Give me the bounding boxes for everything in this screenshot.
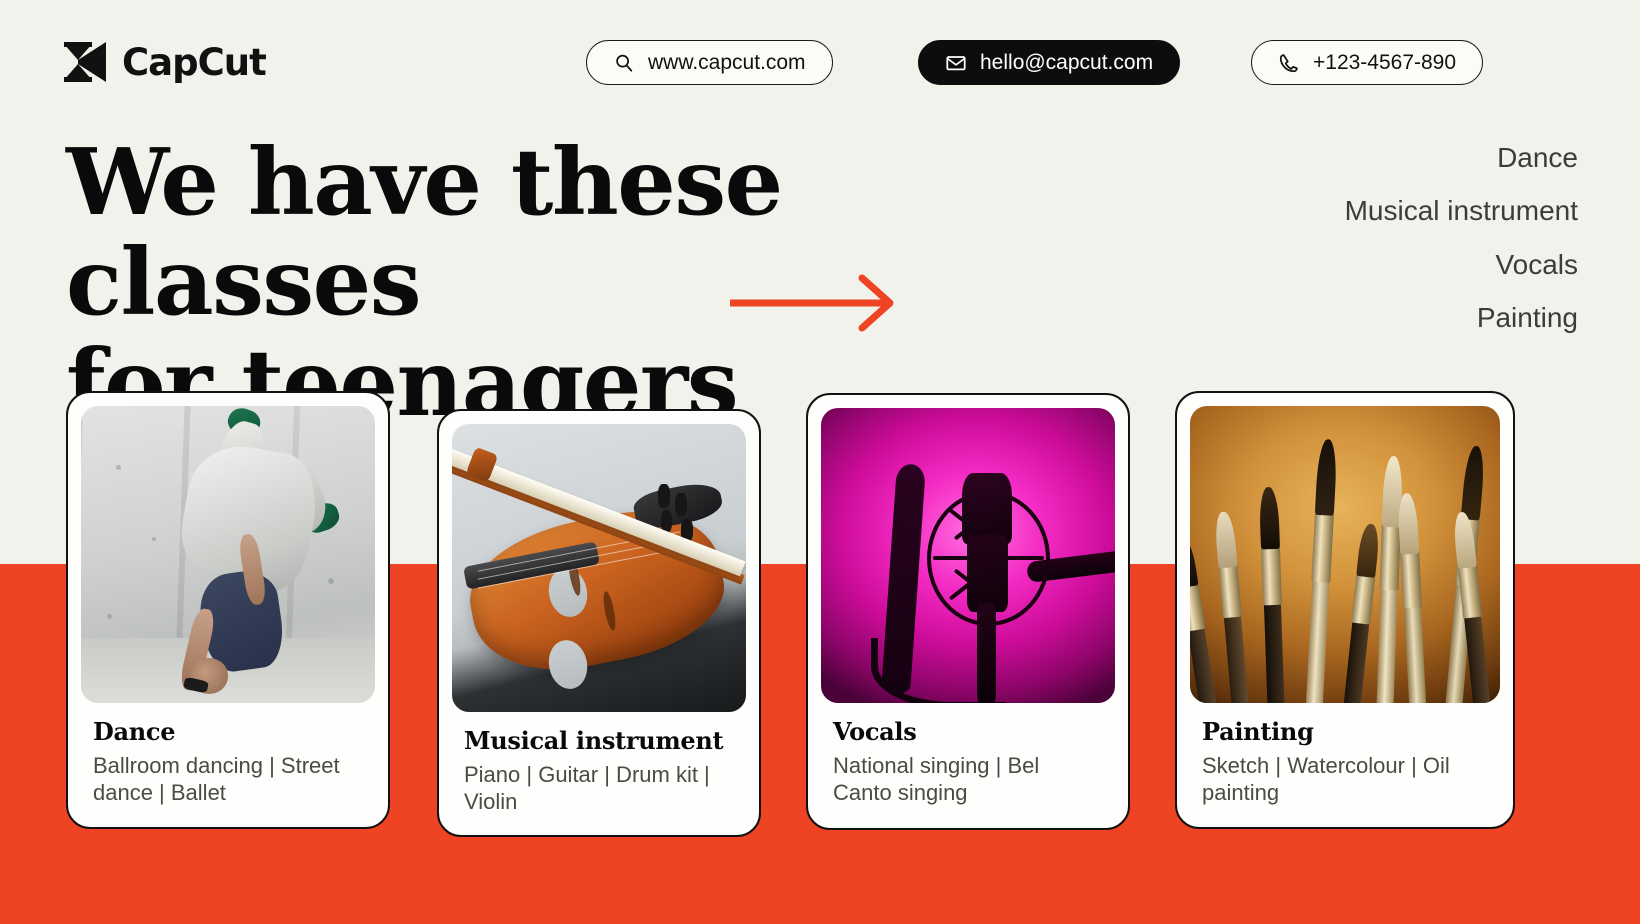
card-image-dance — [81, 406, 375, 703]
category-item-musical-instrument[interactable]: Musical instrument — [1345, 196, 1578, 225]
class-card-vocals[interactable]: Vocals National singing | Bel Canto sing… — [806, 393, 1130, 830]
headline-line-1: We have these classes — [66, 132, 1146, 333]
card-title-painting: Painting — [1202, 717, 1488, 746]
contact-label-website: www.capcut.com — [648, 51, 806, 75]
class-card-dance[interactable]: Dance Ballroom dancing | Street dance | … — [66, 391, 390, 829]
category-item-vocals[interactable]: Vocals — [1345, 250, 1578, 279]
card-title-vocals: Vocals — [833, 717, 1103, 746]
page-title: We have these classes for teenagers — [66, 132, 1146, 433]
card-image-painting — [1190, 406, 1500, 703]
contact-pill-phone[interactable]: +123-4567-890 — [1251, 40, 1483, 85]
card-body-dance: Dance Ballroom dancing | Street dance | … — [81, 703, 375, 807]
card-description-dance: Ballroom dancing | Street dance | Ballet — [93, 753, 363, 807]
card-title-musical-instrument: Musical instrument — [464, 726, 734, 755]
class-card-painting[interactable]: Painting Sketch | Watercolour | Oil pain… — [1175, 391, 1515, 829]
brand-logo[interactable]: CapCut — [62, 40, 266, 84]
card-description-vocals: National singing | Bel Canto singing — [833, 753, 1103, 807]
class-card-musical-instrument[interactable]: Musical instrument Piano | Guitar | Drum… — [437, 409, 761, 837]
contact-label-phone: +123-4567-890 — [1313, 51, 1456, 75]
contact-label-email: hello@capcut.com — [980, 51, 1153, 75]
arrow-right-icon[interactable] — [728, 272, 900, 334]
contact-pill-website[interactable]: www.capcut.com — [586, 40, 833, 85]
card-body-vocals: Vocals National singing | Bel Canto sing… — [821, 703, 1115, 807]
card-image-vocals — [821, 408, 1115, 703]
card-description-painting: Sketch | Watercolour | Oil painting — [1202, 753, 1488, 807]
page-header: CapCut www.capcut.com hello@capcut.com +… — [0, 0, 1640, 124]
capcut-logo-icon — [62, 40, 108, 84]
category-list: Dance Musical instrument Vocals Painting — [1345, 143, 1578, 357]
category-item-dance[interactable]: Dance — [1345, 143, 1578, 172]
contact-pill-email[interactable]: hello@capcut.com — [918, 40, 1180, 85]
card-body-musical-instrument: Musical instrument Piano | Guitar | Drum… — [452, 712, 746, 816]
card-title-dance: Dance — [93, 717, 363, 746]
phone-icon — [1278, 52, 1300, 74]
poster-canvas: CapCut www.capcut.com hello@capcut.com +… — [0, 0, 1640, 924]
envelope-icon — [945, 52, 967, 74]
category-item-painting[interactable]: Painting — [1345, 303, 1578, 332]
card-image-musical-instrument — [452, 424, 746, 712]
brand-name: CapCut — [122, 44, 266, 81]
card-body-painting: Painting Sketch | Watercolour | Oil pain… — [1190, 703, 1500, 807]
card-description-musical-instrument: Piano | Guitar | Drum kit | Violin — [464, 762, 734, 816]
search-icon — [613, 52, 635, 74]
